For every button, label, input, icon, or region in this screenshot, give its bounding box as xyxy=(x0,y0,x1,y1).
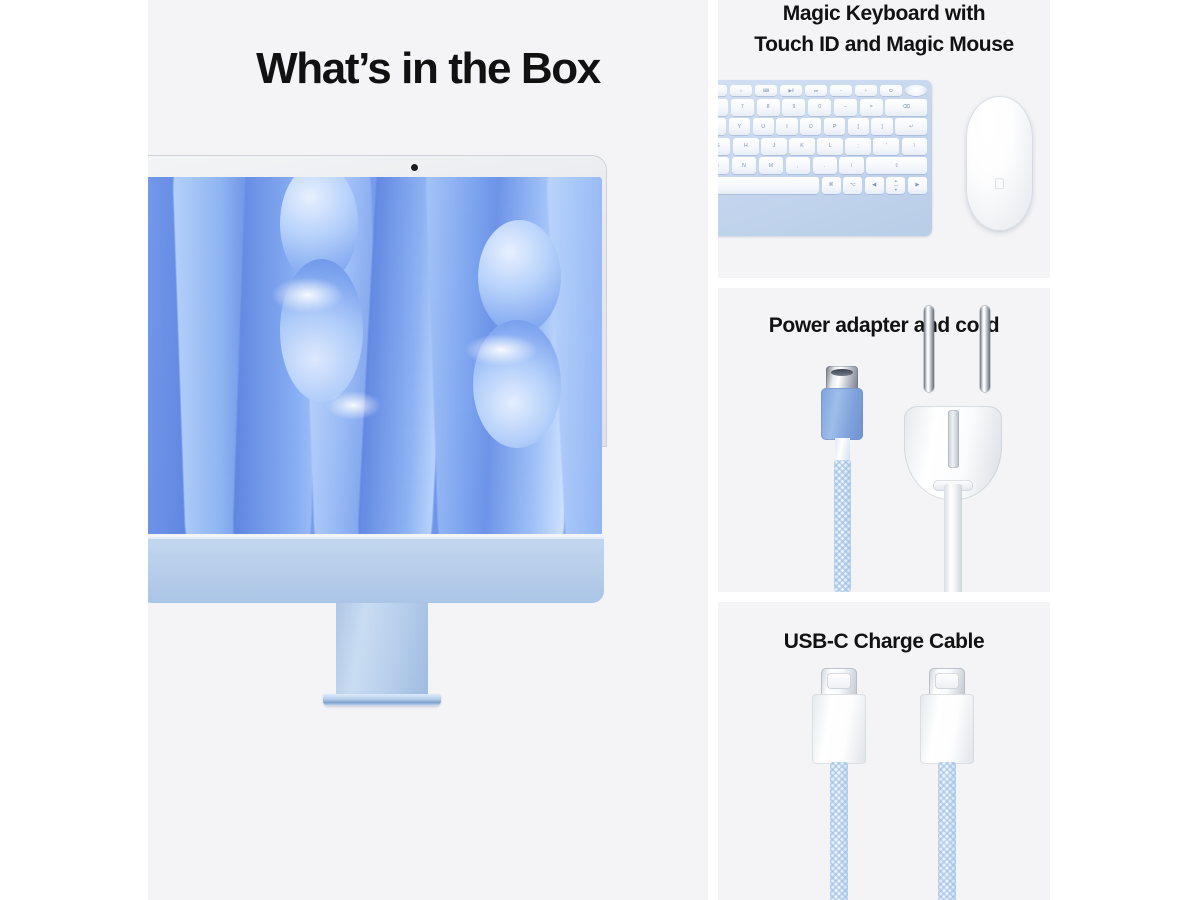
usb-c-housing xyxy=(920,694,974,764)
key: [ xyxy=(848,118,869,135)
key: B xyxy=(718,157,729,174)
panel-power-adapter[interactable]: Power adapter and cord xyxy=(718,288,1050,592)
key-command: ⌘ xyxy=(822,177,841,194)
key-arrow-right: ▶ xyxy=(908,177,927,194)
key: / xyxy=(839,157,863,174)
keyboard-row-modifiers: ⌘ ⌥ ◀ ▲ ▼ ▶ xyxy=(718,177,927,194)
usb-c-cable-illustration xyxy=(718,602,1050,900)
key: . xyxy=(813,157,837,174)
key: ☼ xyxy=(730,85,752,96)
key-arrow-up-down: ▲ ▼ xyxy=(886,177,905,194)
panel-usb-c-charge-cable[interactable]: USB-C Charge Cable xyxy=(718,602,1050,900)
key: 8 xyxy=(757,99,780,116)
key-shift: ⇧ xyxy=(866,157,927,174)
key-delete: ⌫ xyxy=(885,99,927,116)
key-option: ⌥ xyxy=(843,177,862,194)
key-return: ↵ xyxy=(895,118,927,135)
key: U xyxy=(753,118,774,135)
magic-mouse-icon:  xyxy=(966,96,1033,231)
key: M xyxy=(759,157,783,174)
key: ⌨ xyxy=(755,85,777,96)
keyboard-row-home: G H J K L ; ' \ xyxy=(718,138,927,155)
keyboard-row-numbers: 6 7 8 9 0 – = ⌫ xyxy=(718,99,927,116)
key: + xyxy=(855,85,877,96)
key: N xyxy=(732,157,756,174)
plug-earth-slot xyxy=(948,410,959,468)
key: ] xyxy=(871,118,892,135)
wallpaper-highlight xyxy=(271,277,345,313)
plug-pin-left-icon xyxy=(924,306,934,392)
magic-keyboard-icon: ☼ ☼ ⌨ ▶‖ ⏭ − + ⏻ 6 7 8 9 0 – = ⌫ T xyxy=(718,80,932,236)
camera-dot-icon xyxy=(411,164,418,171)
usb-c-braided-cable xyxy=(830,762,848,900)
wallpaper-highlight xyxy=(464,334,538,366)
key: K xyxy=(789,138,814,155)
key: Y xyxy=(729,118,750,135)
imac-chin xyxy=(148,537,604,603)
panel-title-magic-keyboard: Magic Keyboard with Touch ID and Magic M… xyxy=(718,0,1050,60)
usb-c-tip xyxy=(821,668,857,696)
imac-stand-neck xyxy=(336,603,428,695)
key: \ xyxy=(902,138,927,155)
power-cord-connector-icon xyxy=(821,388,863,440)
key: J xyxy=(761,138,786,155)
power-cord-cable xyxy=(834,460,851,592)
touch-id-icon xyxy=(905,85,927,96)
arrow-up-icon: ▲ xyxy=(894,177,898,185)
panel-magic-keyboard-and-mouse[interactable]: Magic Keyboard with Touch ID and Magic M… xyxy=(718,0,1050,278)
key: G xyxy=(718,138,730,155)
key: P xyxy=(824,118,845,135)
key: L xyxy=(817,138,842,155)
key: 9 xyxy=(782,99,805,116)
key: T xyxy=(718,118,726,135)
arrow-down-icon: ▼ xyxy=(894,185,898,194)
key: ☼ xyxy=(718,85,727,96)
key: 7 xyxy=(731,99,754,116)
key: H xyxy=(733,138,758,155)
usb-c-tip xyxy=(929,668,965,696)
usb-c-braided-cable xyxy=(938,762,956,900)
key: − xyxy=(830,85,852,96)
panel-imac[interactable] xyxy=(148,0,708,900)
key: 6 xyxy=(718,99,728,116)
key: ⏭ xyxy=(805,85,827,96)
keyboard-row-function: ☼ ☼ ⌨ ▶‖ ⏭ − + ⏻ xyxy=(718,85,927,96)
imac-illustration xyxy=(148,156,606,726)
key: = xyxy=(860,99,883,116)
key: ▶‖ xyxy=(780,85,802,96)
key: 0 xyxy=(808,99,831,116)
key-arrow-left: ◀ xyxy=(865,177,884,194)
power-connector-tip-icon xyxy=(826,366,858,390)
wallpaper-lobe xyxy=(478,220,561,334)
page-title: What’s in the Box xyxy=(148,43,708,95)
keyboard-row-top: T Y U I O P [ ] ↵ xyxy=(718,118,927,135)
key: , xyxy=(786,157,810,174)
key: ' xyxy=(873,138,898,155)
plug-cable-stem xyxy=(944,484,962,592)
key: ; xyxy=(845,138,870,155)
power-adapter-illustration xyxy=(718,288,1050,592)
apple-logo-icon:  xyxy=(966,177,1033,192)
plug-pin-right-icon xyxy=(980,306,990,392)
imac-display-screen xyxy=(148,177,602,534)
imac-stand-foot xyxy=(323,694,441,706)
product-gallery-image: What’s in the Box Magic Keyboard with To… xyxy=(0,0,1200,900)
key: – xyxy=(834,99,857,116)
usb-c-housing xyxy=(812,694,866,764)
wallpaper-highlight xyxy=(326,391,381,420)
key: ⏻ xyxy=(880,85,902,96)
key: O xyxy=(800,118,821,135)
keyboard-row-bottom: B N M , . / ⇧ xyxy=(718,157,927,174)
key-space xyxy=(718,177,819,194)
key: I xyxy=(776,118,797,135)
